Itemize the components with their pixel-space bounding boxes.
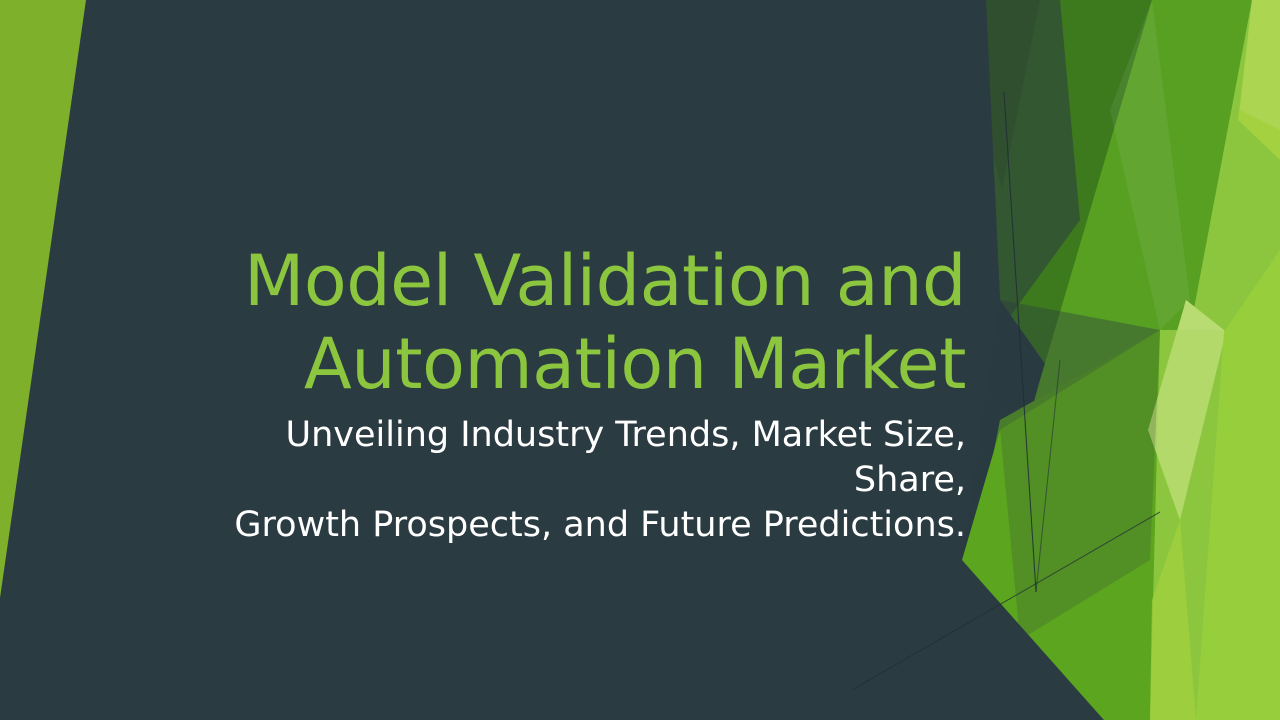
title-text-block: Model Validation and Automation Market U… <box>180 240 966 548</box>
presentation-slide: Model Validation and Automation Market U… <box>0 0 1280 720</box>
page-subtitle: Unveiling Industry Trends, Market Size, … <box>180 413 966 547</box>
page-title: Model Validation and Automation Market <box>180 240 966 405</box>
